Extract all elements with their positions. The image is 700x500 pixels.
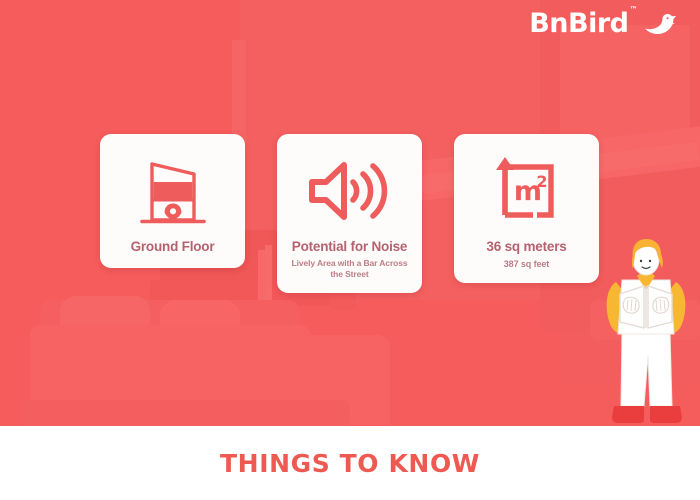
card-subtitle: Lively Area with a Bar Across the Street <box>285 258 414 281</box>
bird-icon <box>642 11 678 37</box>
photo-rug <box>20 400 350 426</box>
area-unit-exponent: 2 <box>536 172 547 191</box>
brand-logo[interactable]: BnBird™ <box>529 8 678 39</box>
person-reading-book-illustration <box>592 236 700 426</box>
card-icon-wrap <box>306 151 394 231</box>
hero-panel: BnBird™ <box>0 0 700 426</box>
card-ground-floor[interactable]: Ground Floor <box>100 134 245 268</box>
card-title: Potential for Noise <box>292 239 407 255</box>
square-meters-area-icon: m 2 <box>487 153 567 229</box>
card-title: 36 sq meters <box>486 239 566 255</box>
card-icon-wrap <box>132 151 214 231</box>
card-subtitle: 387 sq feet <box>504 258 549 270</box>
footer-bar: THINGS TO KNOW <box>0 426 700 500</box>
trademark-symbol: ™ <box>630 5 638 14</box>
brand-name-text: BnBird™ <box>529 8 636 39</box>
slide-canvas: BnBird™ <box>0 0 700 500</box>
brand-name-label: BnBird <box>529 8 628 39</box>
card-area-size[interactable]: m 2 36 sq meters 387 sq feet <box>454 134 599 283</box>
card-title: Ground Floor <box>131 239 215 255</box>
speaker-sound-waves-icon <box>306 158 394 224</box>
card-potential-for-noise[interactable]: Potential for Noise Lively Area with a B… <box>277 134 422 293</box>
building-location-pin-icon <box>132 152 214 230</box>
card-icon-wrap: m 2 <box>487 151 567 231</box>
footer-title: THINGS TO KNOW <box>220 449 480 478</box>
photo-window-pane <box>560 25 690 145</box>
info-cards-row: Ground Floor Potential for Noise Lively … <box>100 134 600 293</box>
